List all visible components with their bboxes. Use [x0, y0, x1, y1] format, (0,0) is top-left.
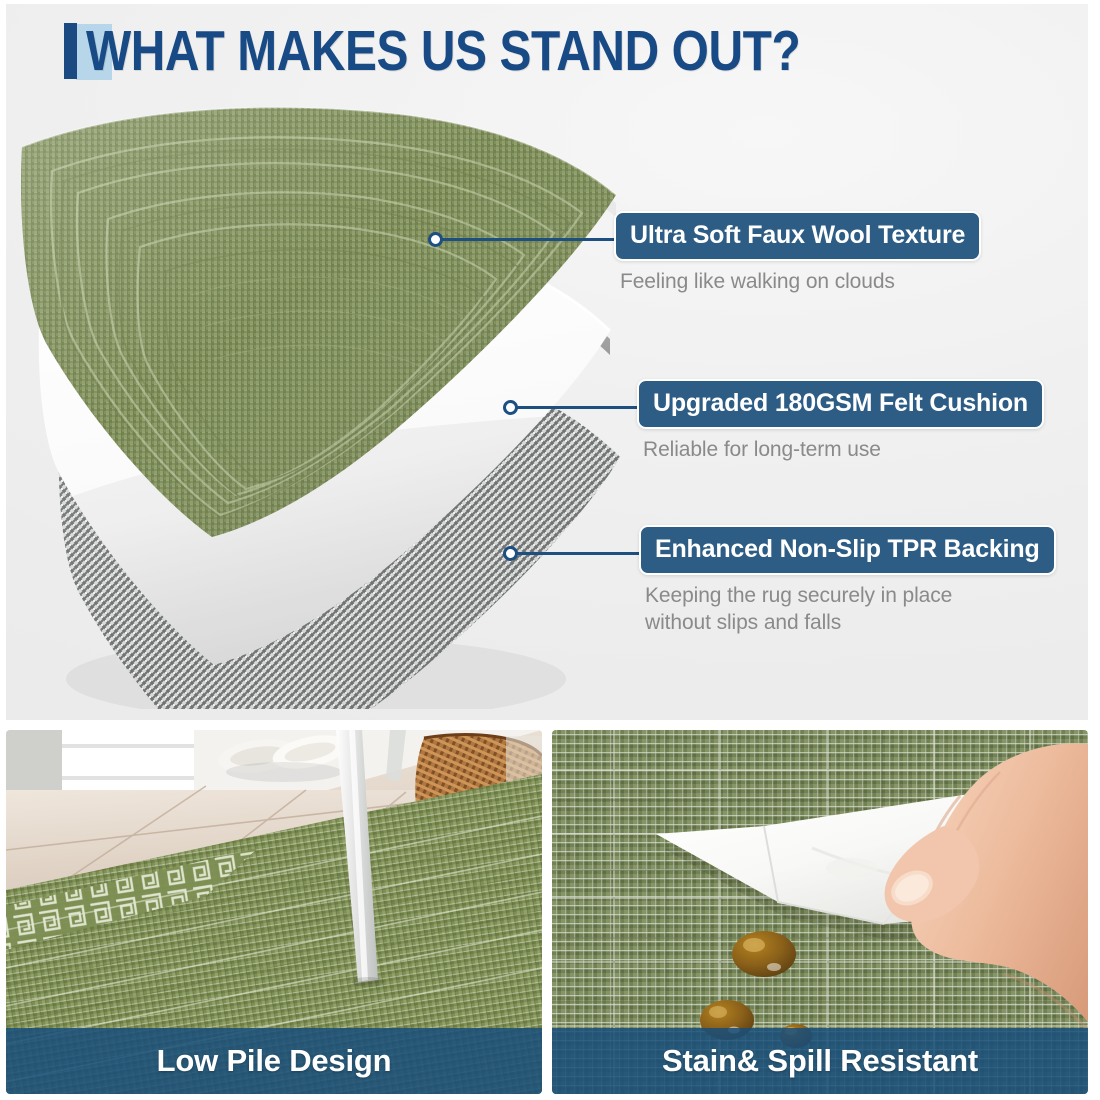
page-title: WHAT MAKES US STAND OUT?: [64, 18, 936, 84]
photo-low-pile: Low Pile Design: [6, 730, 542, 1094]
title-bar-icon: [64, 23, 77, 79]
exploded-rug-diagram: [16, 99, 656, 709]
infographic-root: WHAT MAKES US STAND OUT?: [0, 0, 1100, 1100]
callout-texture-label: Ultra Soft Faux Wool Texture: [614, 211, 981, 261]
callout-cushion-label: Upgraded 180GSM Felt Cushion: [637, 379, 1044, 429]
caption-low-pile: Low Pile Design: [6, 1028, 542, 1094]
callout-backing: Enhanced Non-Slip TPR Backing Keeping th…: [639, 525, 1056, 636]
callout-texture-subtitle: Feeling like walking on clouds: [620, 268, 981, 295]
photo-row: Low Pile Design: [6, 730, 1088, 1094]
features-panel: WHAT MAKES US STAND OUT?: [6, 4, 1088, 720]
leader-line-texture: [442, 238, 614, 241]
title-text: WHAT MAKES US STAND OUT?: [86, 23, 800, 80]
leader-dot-backing: [503, 546, 518, 561]
leader-line-cushion: [517, 406, 637, 409]
caption-low-pile-text: Low Pile Design: [157, 1043, 392, 1079]
leader-line-backing: [517, 552, 639, 555]
callout-cushion-subtitle: Reliable for long-term use: [643, 436, 1044, 463]
photo-stain-resistant: Stain& Spill Resistant: [552, 730, 1088, 1094]
callout-backing-subtitle: Keeping the rug securely in place withou…: [645, 582, 1056, 636]
callout-texture: Ultra Soft Faux Wool Texture Feeling lik…: [614, 211, 981, 295]
callout-backing-label: Enhanced Non-Slip TPR Backing: [639, 525, 1056, 575]
caption-stain-resistant-text: Stain& Spill Resistant: [662, 1043, 978, 1079]
leader-dot-cushion: [503, 400, 518, 415]
caption-stain-resistant: Stain& Spill Resistant: [552, 1028, 1088, 1094]
leader-dot-texture: [428, 232, 443, 247]
callout-cushion: Upgraded 180GSM Felt Cushion Reliable fo…: [637, 379, 1044, 463]
